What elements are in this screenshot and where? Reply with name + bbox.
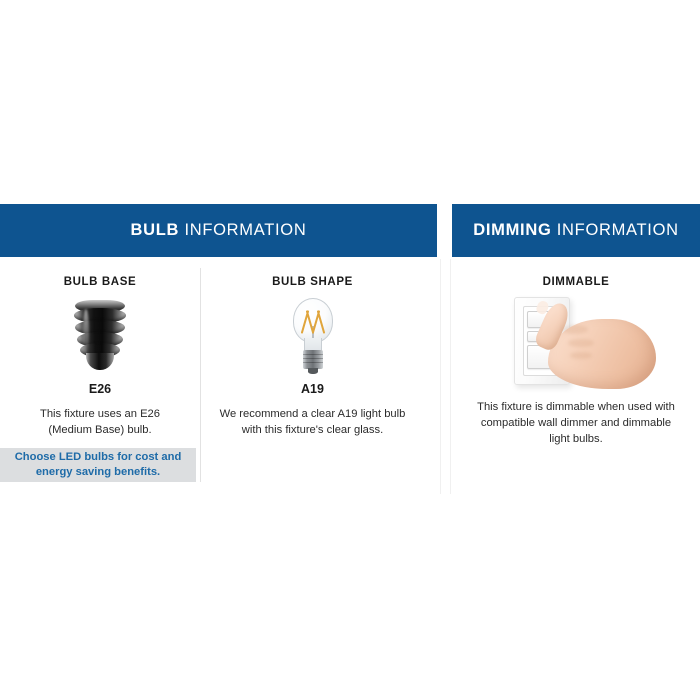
bulb-base-title: BULB BASE xyxy=(0,257,200,288)
bulb-header-light: INFORMATION xyxy=(179,221,306,239)
bulb-information-header: BULB INFORMATION xyxy=(0,204,437,257)
panel-gap-divider-right xyxy=(450,259,451,494)
bulb-shape-code: A19 xyxy=(201,382,424,396)
dimmable-title: DIMMABLE xyxy=(452,257,700,288)
bulb-base-code: E26 xyxy=(0,382,200,396)
bulb-base-description: This fixture uses an E26 (Medium Base) b… xyxy=(18,396,183,439)
led-callout-text: Choose LED bulbs for cost and energy sav… xyxy=(9,450,187,480)
dimmable-description: This fixture is dimmable when used with … xyxy=(474,387,679,448)
dimming-header-strong: DIMMING xyxy=(473,221,551,239)
dimming-header-light: INFORMATION xyxy=(551,221,678,239)
bulb-shape-column: BULB SHAPE A19 We recommend a clear A19 … xyxy=(201,257,424,439)
dimming-information-header-text: DIMMING INFORMATION xyxy=(473,222,679,239)
bulb-header-strong: BULB xyxy=(131,221,180,239)
e26-screw-base-icon xyxy=(0,298,200,376)
panel-gap-divider-left xyxy=(440,259,441,494)
led-callout-box: Choose LED bulbs for cost and energy sav… xyxy=(0,448,196,482)
bulb-shape-description: We recommend a clear A19 light bulb with… xyxy=(218,396,408,439)
bulb-shape-title: BULB SHAPE xyxy=(201,257,424,288)
dimming-information-header: DIMMING INFORMATION xyxy=(452,204,700,257)
wall-dimmer-switch-hand-icon xyxy=(452,295,700,387)
bulb-information-header-text: BULB INFORMATION xyxy=(131,222,307,239)
bulb-and-dimming-info-panels: BULB INFORMATION DIMMING INFORMATION BUL… xyxy=(0,204,700,494)
a19-bulb-icon xyxy=(201,298,424,376)
dimmable-column: DIMMABLE This fixture is dimmable when u… xyxy=(452,257,700,448)
bulb-base-column: BULB BASE E26 This fixture uses an E26 (… xyxy=(0,257,200,439)
